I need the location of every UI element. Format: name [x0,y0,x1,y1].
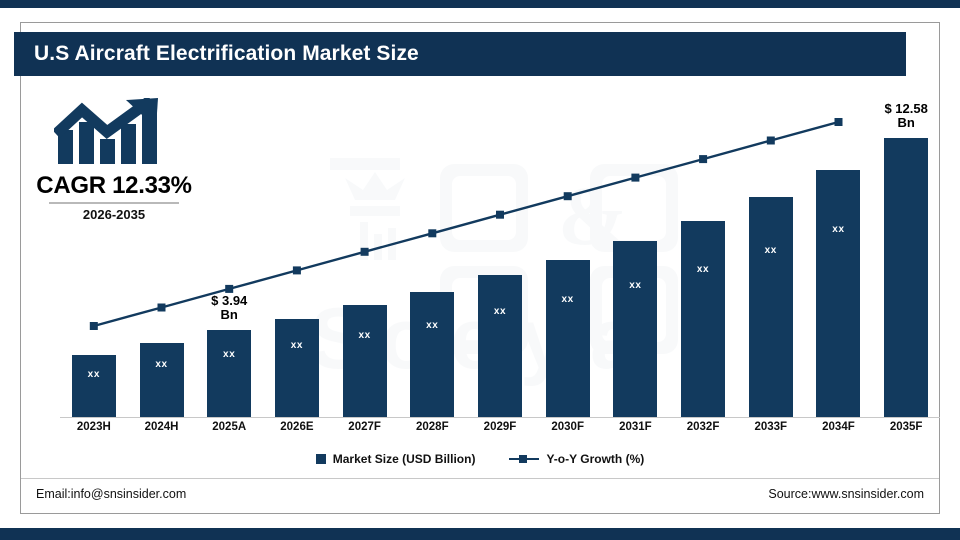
x-label-2027f: 2027F [331,421,399,433]
x-label-2035f: 2035F [872,421,940,433]
bottom-accent-strip [0,528,960,540]
chart-legend: Market Size (USD Billion) Y-o-Y Growth (… [0,452,960,466]
chart-infographic-page: U.S Aircraft Electrification Market Size… [0,0,960,540]
growth-line-path [94,122,839,326]
growth-marker-2025a[interactable] [225,285,233,293]
x-label-2030f: 2030F [534,421,602,433]
growth-marker-2034f[interactable] [835,118,843,126]
growth-marker-2027f[interactable] [361,248,369,256]
growth-marker-2031f[interactable] [631,174,639,182]
x-label-2023h: 2023H [60,421,128,433]
x-label-2026e: 2026E [263,421,331,433]
growth-marker-2024h[interactable] [158,304,166,312]
growth-marker-2033f[interactable] [767,137,775,145]
legend-label-market-size: Market Size (USD Billion) [333,452,476,466]
plot-area: xxxxxxxxxxxxxxxxxxxxxxxx$ 3.94 Bn$ 12.58… [60,100,940,418]
title-bar: U.S Aircraft Electrification Market Size [14,32,906,76]
legend-square-marker-icon [316,454,326,464]
footer-divider [21,478,939,479]
footer-source[interactable]: Source:www.snsinsider.com [768,487,924,501]
page-title: U.S Aircraft Electrification Market Size [14,42,419,66]
growth-marker-2029f[interactable] [496,211,504,219]
x-label-2031f: 2031F [602,421,670,433]
footer-email[interactable]: Email:info@snsinsider.com [36,487,186,501]
top-accent-strip [0,0,960,8]
x-label-2028f: 2028F [398,421,466,433]
growth-marker-2032f[interactable] [699,155,707,163]
legend-item-yoy-growth[interactable]: Y-o-Y Growth (%) [509,452,644,466]
legend-item-market-size[interactable]: Market Size (USD Billion) [316,452,476,466]
legend-line-marker-icon [509,454,539,464]
legend-label-yoy-growth: Y-o-Y Growth (%) [546,452,644,466]
x-label-2033f: 2033F [737,421,805,433]
growth-marker-2030f[interactable] [564,192,572,200]
x-label-2024h: 2024H [128,421,196,433]
growth-marker-2026e[interactable] [293,266,301,274]
growth-marker-2023h[interactable] [90,322,98,330]
x-label-2034f: 2034F [805,421,873,433]
growth-line-series [60,100,940,418]
growth-marker-2028f[interactable] [428,229,436,237]
x-label-2032f: 2032F [669,421,737,433]
x-axis-labels: 2023H2024H2025A2026E2027F2028F2029F2030F… [60,421,940,437]
x-label-2025a: 2025A [195,421,263,433]
x-label-2029f: 2029F [466,421,534,433]
